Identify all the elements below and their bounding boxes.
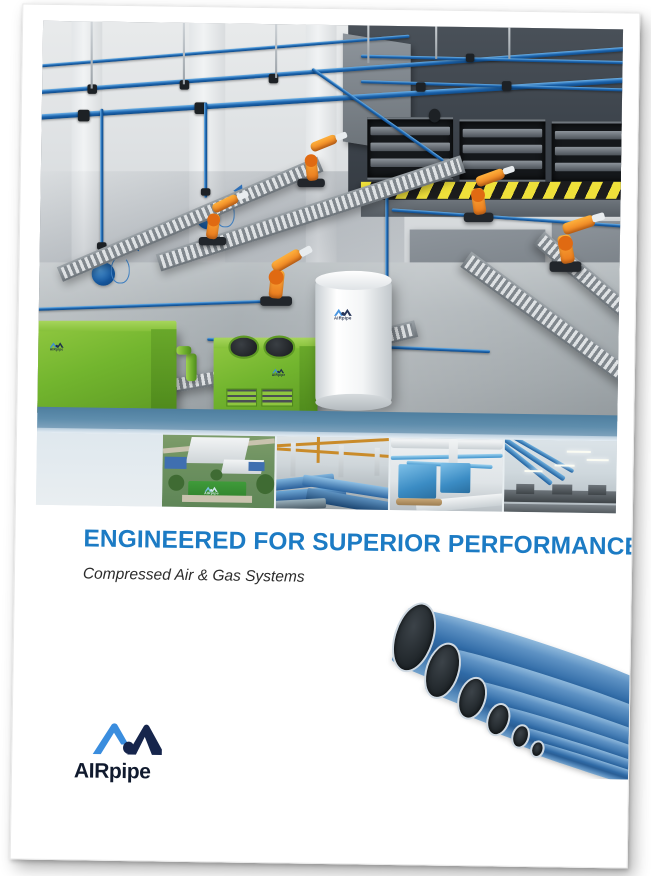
robot-tool <box>591 212 605 223</box>
page-subheadline: Compressed Air & Gas Systems <box>83 565 543 590</box>
pipe-hanger <box>508 22 510 59</box>
dryer-fan-left <box>228 336 259 359</box>
inline-filter-1-head <box>176 346 191 354</box>
robot-arm-2 <box>293 134 348 187</box>
robot-tool <box>237 190 250 201</box>
thumb3-skid <box>396 498 442 506</box>
airpipe-logo-text: AIRpipe <box>272 373 285 376</box>
pipe-clip <box>502 81 512 91</box>
pipe-clip <box>465 54 473 62</box>
pipe-hanger <box>435 22 437 59</box>
thumb2-roof-truss <box>317 437 320 463</box>
air-receiver-tank: AIRpipe <box>315 279 392 404</box>
pipe-hanger <box>90 22 92 88</box>
thumb2-column <box>338 445 343 477</box>
thumb-pipe-warehouse[interactable] <box>276 436 389 510</box>
thumb4-machine <box>552 484 572 494</box>
pipe-drop-leg-2 <box>204 103 207 199</box>
thumb4-ceiling-light <box>524 470 542 472</box>
inline-filter-1 <box>186 354 197 382</box>
robot-tool <box>299 244 314 257</box>
thumb-aerial-factory[interactable]: AIRpipe <box>162 435 275 509</box>
blue-aluminium-pipes-image <box>364 591 637 780</box>
robot-joint <box>305 154 318 167</box>
airpipe-logo-text: AIRpipe <box>334 316 352 320</box>
robot-arm-3 <box>256 246 315 305</box>
thumb1-blue-roof <box>164 457 186 469</box>
thumb4-machine <box>588 485 606 495</box>
pipe-clip <box>78 110 90 122</box>
brochure-cover-screenshot: AIRpipe <box>0 0 651 876</box>
thumb3-compressor-2 <box>440 463 470 493</box>
thumb2-column <box>290 442 296 476</box>
pipe-hanger <box>183 22 185 84</box>
pipe-clip <box>416 82 426 92</box>
robot-link-upper <box>474 168 506 188</box>
thumbnail-strip: AIRpipe <box>36 433 617 514</box>
brand-wordmark: AIRpipe <box>74 760 198 783</box>
hero-scene: AIRpipe <box>37 21 623 422</box>
pipes-image-fade <box>364 591 637 780</box>
louver-bank-3 <box>552 121 624 183</box>
robot-joint <box>471 188 485 202</box>
airpipe-logo-on-compressor: AIRpipe <box>49 341 64 352</box>
dryer-grille-left <box>226 389 257 407</box>
robot-tool <box>502 165 515 175</box>
thumb-plant-ceiling-piping[interactable] <box>504 440 617 514</box>
brand-word-pipe: pipe <box>109 760 151 784</box>
dryer-fan-right <box>264 336 295 359</box>
thumb4-ceiling-light <box>587 459 609 461</box>
thumb2-pipe-stack <box>276 498 326 510</box>
pipe-hanger <box>275 22 277 78</box>
thumb4-ceiling-light <box>567 451 591 453</box>
robot-arm-5 <box>545 213 606 272</box>
thumb4-production-line <box>504 504 616 514</box>
thumb2-column <box>374 448 379 476</box>
brand-logo[interactable]: AIRpipe <box>74 718 199 783</box>
page-surface: AIRpipe <box>10 3 641 868</box>
page-headline: ENGINEERED FOR SUPERIOR PERFORMANCE <box>83 525 603 561</box>
hero-image: AIRpipe <box>37 21 623 422</box>
airpipe-logo-on-dryer: AIRpipe <box>272 367 285 377</box>
refrigerated-dryer-unit: AIRpipe <box>213 346 318 417</box>
page-sheet: AIRpipe <box>10 3 641 868</box>
brand-word-air: AIR <box>74 759 109 783</box>
pipe-hanger <box>367 22 369 64</box>
airpipe-logo-text: AIRpipe <box>50 348 63 351</box>
robot-joint <box>269 269 284 284</box>
thumb1-path <box>182 495 252 503</box>
hose-coil-1 <box>111 256 130 284</box>
thumb3-ceiling-duct <box>391 440 503 450</box>
pipe-drop-leg-1 <box>100 109 103 250</box>
robot-arm-4 <box>459 167 516 222</box>
robot-joint <box>208 213 221 226</box>
thumb4-machine <box>516 484 534 494</box>
airpipe-logo-on-tank: AIRpipe <box>333 307 352 321</box>
robot-arm-1 <box>195 192 250 245</box>
pipe-drop-valve <box>429 109 441 123</box>
dryer-grille-right <box>261 389 292 407</box>
thumb1-blue-roof-2 <box>248 462 264 471</box>
strip-left-panel <box>36 433 163 507</box>
thumb1-tree <box>210 469 222 480</box>
thumb4-ceiling-light <box>555 464 575 466</box>
air-compressor-unit: AIRpipe <box>37 329 176 412</box>
tank-dome-top <box>315 271 392 290</box>
thumb-compressor-room[interactable] <box>390 438 503 512</box>
thumb3-compressor-1 <box>398 464 437 499</box>
compressor-side-panel <box>151 329 176 412</box>
airpipe-mountain-mark <box>90 719 165 760</box>
